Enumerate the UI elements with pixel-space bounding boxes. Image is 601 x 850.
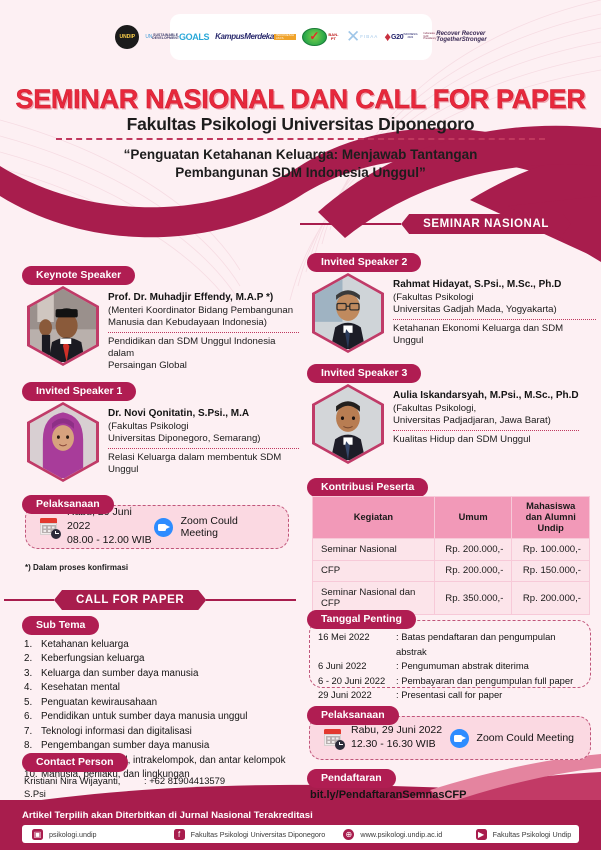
social-link-website[interactable]: ⊕ www.psikologi.undip.ac.id	[333, 829, 465, 840]
pelaksanaan-seminar-time: 08.00 - 12.00 WIB	[67, 534, 154, 548]
invited-speaker-3-badge-wrap: Invited Speaker 3	[307, 363, 421, 383]
speaker-card-invited-2: Rahmat Hidayat, S.Psi., M.Sc., Ph.D (Fak…	[312, 273, 596, 353]
item-number: 3.	[24, 667, 41, 681]
invited-speaker-2-badge: Invited Speaker 2	[307, 253, 421, 272]
zoom-label: Zoom Could Meeting	[181, 515, 272, 539]
cell-kegiatan: CFP	[313, 560, 435, 582]
speaker-info: Prof. Dr. Muhadjir Effendy, M.A.P *) (Me…	[108, 286, 299, 372]
kampus-merdeka-logo: Kampus Merdeka INDONESIA JAYA	[215, 33, 296, 41]
website-label: www.psikologi.undip.ac.id	[360, 830, 442, 839]
un-emblem: UN	[145, 35, 152, 40]
sub-tema-badge: Sub Tema	[22, 616, 99, 635]
speaker-divider	[393, 430, 579, 431]
tanggal-penting-badge: Tanggal Penting	[307, 610, 416, 629]
cell-umum: Rp. 200.000,-	[434, 560, 512, 582]
list-item: 2.Keberfungsian keluarga	[24, 652, 296, 666]
seminar-nasional-label: SEMINAR NASIONAL	[401, 214, 571, 234]
fibaa-label: FIBAA	[360, 35, 378, 40]
contact-person-badge-wrap: Contact Person	[22, 752, 128, 772]
speaker-name: Rahmat Hidayat, S.Psi., M.Sc., Ph.D	[393, 279, 596, 292]
speaker-photo-frame	[27, 402, 99, 482]
list-item: 6.Pendidikan untuk sumber daya manusia u…	[24, 710, 296, 724]
speaker-photo	[315, 387, 381, 461]
date-desc: : Batas pendaftaran dan pengumpulan abst…	[396, 630, 586, 659]
table-row: CFP Rp. 200.000,- Rp. 150.000,-	[313, 560, 590, 582]
contact-name: Kristiani Nira Wijayanti, S.Psi	[24, 774, 144, 801]
pelaksanaan-cfp-date: Rabu, 29 Juni 2022	[351, 724, 442, 738]
social-link-youtube[interactable]: ▶ Fakultas Psikologi Undip	[466, 829, 579, 840]
item-number: 7.	[24, 725, 41, 739]
invited-2-photo-image	[315, 276, 381, 349]
title-divider	[56, 138, 545, 140]
item-number: 6.	[24, 710, 41, 724]
speaker-divider	[108, 332, 299, 333]
pelaksanaan-cfp-badge: Pelaksanaan	[307, 706, 399, 725]
youtube-icon: ▶	[476, 829, 487, 840]
footer-note: Artikel Terpilih akan Diterbitkan di Jur…	[22, 810, 313, 821]
speaker-affiliation-line1: (Fakultas Psikologi	[393, 292, 596, 304]
tanggal-penting-list: 16 Mei 2022: Batas pendaftaran dan pengu…	[318, 630, 586, 703]
social-links-bar: ▣ psikologi.undip f Fakultas Psikologi U…	[22, 825, 579, 843]
contact-phone: : +62 81904413579	[144, 774, 225, 801]
rt-line1: Recover Together	[436, 31, 461, 44]
banner-line-right	[571, 223, 597, 225]
speaker-photo	[30, 289, 96, 363]
item-text: Kesehatan mental	[41, 681, 120, 695]
item-text: Teknologi informasi dan digitalisasi	[41, 725, 192, 739]
speaker-photo-frame	[312, 384, 384, 464]
item-text: Ketahanan keluarga	[41, 638, 129, 652]
speaker-affiliation-line2: Universitas Gadjah Mada, Yogyakarta)	[393, 304, 596, 316]
instagram-label: psikologi.undip	[49, 830, 97, 839]
speaker-topic-line1: Kualitas Hidup dan SDM Unggul	[393, 434, 579, 446]
item-number: 4.	[24, 681, 41, 695]
speaker-topic-line1: Pendidikan dan SDM Unggul Indonesia dala…	[108, 336, 299, 360]
speaker-card-invited-3: Aulia Iskandarsyah, M.Psi., M.Sc., Ph.D …	[312, 384, 596, 464]
invited-speaker-2-badge-wrap: Invited Speaker 2	[307, 252, 421, 272]
speaker-info: Aulia Iskandarsyah, M.Psi., M.Sc., Ph.D …	[393, 384, 579, 446]
speaker-card-keynote: Prof. Dr. Muhadjir Effendy, M.A.P *) (Me…	[27, 286, 299, 372]
cell-kegiatan: Seminar Nasional	[313, 539, 435, 561]
list-item: 7.Teknologi informasi dan digitalisasi	[24, 725, 296, 739]
date-row: 6 - 20 Juni 2022: Pembayaran dan pengump…	[318, 674, 586, 689]
pelaksanaan-cfp-datetime: Rabu, 29 Juni 2022 12.30 - 16.30 WIB	[351, 724, 442, 752]
item-number: 5.	[24, 696, 41, 710]
keynote-speaker-badge: Keynote Speaker	[22, 266, 135, 285]
speaker-name: Aulia Iskandarsyah, M.Psi., M.Sc., Ph.D	[393, 390, 579, 403]
ban-pt-label: BAN-PT	[327, 33, 340, 41]
pendaftaran-badge: Pendaftaran	[307, 769, 396, 788]
theme-line-1: “Penguatan Ketahanan Keluarga: Menjawab …	[0, 146, 601, 164]
date-value: 29 Juni 2022	[318, 688, 396, 703]
list-item: 5.Penguatan kewirausahaan	[24, 696, 296, 710]
pelaksanaan-cfp-badge-wrap: Pelaksanaan	[307, 705, 399, 725]
undip-logo: UNDIP	[115, 25, 139, 49]
table-header-mahasiswa: Mahasiswa dan Alumni Undip	[512, 497, 590, 539]
speaker-topic-line1: Relasi Keluarga dalam membentuk SDM Ungg…	[108, 452, 299, 476]
invited-1-photo-image	[30, 405, 96, 478]
banner-line-left	[300, 223, 401, 225]
zoom-label: Zoom Could Meeting	[477, 732, 574, 744]
rt-line2: Recover Stronger	[462, 31, 487, 44]
calendar-clock-icon	[40, 518, 59, 537]
confirmation-note: *) Dalam proses konfirmasi	[25, 563, 128, 572]
speaker-name: Dr. Novi Qonitatin, S.Psi., M.A	[108, 408, 299, 421]
speaker-affiliation-line2: Manusia dan Kebudayaan Indonesia)	[108, 317, 299, 329]
speaker-affiliation-line1: (Menteri Koordinator Bidang Pembangunan	[108, 305, 299, 317]
table-row: Seminar Nasional Rp. 200.000,- Rp. 100.0…	[313, 539, 590, 561]
pelaksanaan-seminar-badge: Pelaksanaan	[22, 495, 114, 514]
invited-speaker-3-badge: Invited Speaker 3	[307, 364, 421, 383]
speaker-affiliation-line2: Universitas Diponegoro, Semarang)	[108, 433, 299, 445]
theme-line-2: Pembangunan SDM Indonesia Unggul”	[0, 164, 601, 182]
date-value: 6 Juni 2022	[318, 659, 396, 674]
seminar-nasional-banner: SEMINAR NASIONAL	[300, 214, 597, 234]
footer: Artikel Terpilih akan Diterbitkan di Jur…	[0, 800, 601, 850]
item-text: Penguatan kewirausahaan	[41, 696, 157, 710]
speaker-photo-frame	[312, 273, 384, 353]
speaker-card-invited-1: Dr. Novi Qonitatin, S.Psi., M.A (Fakulta…	[27, 402, 299, 482]
social-link-instagram[interactable]: ▣ psikologi.undip	[22, 829, 164, 840]
date-row: 16 Mei 2022: Batas pendaftaran dan pengu…	[318, 630, 586, 659]
cell-umum: Rp. 200.000,-	[434, 539, 512, 561]
zoom-icon	[450, 729, 469, 748]
pelaksanaan-cfp-time: 12.30 - 16.30 WIB	[351, 738, 442, 752]
g20-drop-icon: ♦	[384, 31, 391, 43]
speaker-affiliation-line1: (Fakultas Psikologi,	[393, 403, 579, 415]
date-desc: : Pembayaran dan pengumpulan full paper	[396, 674, 573, 689]
partner-logo-bar: UNDIP UN SUSTAINABLE DEVELOPMENT GOALS K…	[170, 14, 432, 60]
cell-mahasiswa: Rp. 100.000,-	[512, 539, 590, 561]
speaker-photo	[30, 405, 96, 479]
rt-tiny: Indonesia G20 Presidency	[423, 33, 436, 41]
g20-logo: ♦ G20 INDONESIA 2022	[384, 31, 417, 43]
ban-pt-logo: BAN-PT	[302, 28, 340, 46]
kontribusi-badge-wrap: Kontribusi Peserta	[307, 477, 428, 497]
item-text: Keluarga dan sumber daya manusia	[41, 667, 198, 681]
speaker-name: Prof. Dr. Muhadjir Effendy, M.A.P *)	[108, 292, 299, 305]
item-number: 1.	[24, 638, 41, 652]
ban-pt-oval	[302, 28, 327, 46]
globe-icon: ⊕	[343, 829, 354, 840]
pelaksanaan-seminar-badge-wrap: Pelaksanaan	[22, 494, 114, 514]
sdg-logo: UN SUSTAINABLE DEVELOPMENT GOALS	[145, 33, 209, 42]
list-item: 1.Ketahanan keluarga	[24, 638, 296, 652]
date-value: 16 Mei 2022	[318, 630, 396, 659]
pelaksanaan-cfp-platform: Zoom Could Meeting	[450, 729, 590, 748]
call-for-paper-banner: CALL FOR PAPER	[4, 590, 296, 610]
social-link-facebook[interactable]: f Fakultas Psikologi Universitas Diponeg…	[164, 829, 334, 840]
facebook-icon: f	[174, 829, 185, 840]
km-line2: Merdeka	[244, 33, 274, 41]
speaker-info: Dr. Novi Qonitatin, S.Psi., M.A (Fakulta…	[108, 402, 299, 476]
date-value: 6 - 20 Juni 2022	[318, 674, 396, 689]
instagram-icon: ▣	[32, 829, 43, 840]
speaker-affiliation-line1: (Fakultas Psikologi	[108, 421, 299, 433]
sdg-line1: SUSTAINABLE DEVELOPMENT	[152, 34, 179, 41]
speaker-affiliation-line2: Universitas Padjadjaran, Jawa Barat)	[393, 415, 579, 427]
table-header-umum: Umum	[434, 497, 512, 539]
kontribusi-peserta-table: Kegiatan Umum Mahasiswa dan Alumni Undip…	[312, 496, 590, 615]
date-desc: : Pengumuman abstrak diterima	[396, 659, 529, 674]
calendar-clock-icon	[324, 729, 343, 748]
tanggal-penting-badge-wrap: Tanggal Penting	[307, 609, 416, 629]
speaker-divider	[393, 319, 596, 320]
item-number: 2.	[24, 652, 41, 666]
date-row: 6 Juni 2022: Pengumuman abstrak diterima	[318, 659, 586, 674]
speaker-photo	[315, 276, 381, 350]
cell-mahasiswa: Rp. 200.000,-	[512, 582, 590, 615]
cell-umum: Rp. 350.000,-	[434, 582, 512, 615]
table-header-row: Kegiatan Umum Mahasiswa dan Alumni Undip	[313, 497, 590, 539]
kontribusi-peserta-badge: Kontribusi Peserta	[307, 478, 428, 497]
pelaksanaan-seminar-platform: Zoom Could Meeting	[154, 515, 288, 539]
speaker-info: Rahmat Hidayat, S.Psi., M.Sc., Ph.D (Fak…	[393, 273, 596, 347]
km-line1: Kampus	[215, 33, 244, 41]
date-row: 29 Juni 2022: Presentasi call for paper	[318, 688, 586, 703]
cfp-line-right	[206, 599, 296, 601]
page-subtitle: Fakultas Psikologi Universitas Diponegor…	[0, 114, 601, 135]
cfp-line-left	[4, 599, 54, 601]
keynote-photo-image	[30, 289, 96, 362]
contact-row: Kristiani Nira Wijayanti, S.Psi: +62 819…	[24, 774, 294, 801]
invited-speaker-1-badge-wrap: Invited Speaker 1	[22, 381, 136, 401]
g20-label: G20	[391, 34, 403, 41]
fibaa-mark: ✕	[346, 30, 360, 44]
invited-3-photo-image	[315, 387, 381, 460]
list-item: 4.Kesehatan mental	[24, 681, 296, 695]
zoom-icon	[154, 518, 173, 537]
speaker-divider	[108, 448, 299, 449]
contact-person-badge: Contact Person	[22, 753, 128, 772]
seminar-poster: UNDIP UN SUSTAINABLE DEVELOPMENT GOALS K…	[0, 0, 601, 850]
keynote-speaker-badge-wrap: Keynote Speaker	[22, 265, 135, 285]
km-line3: INDONESIA JAYA	[274, 34, 296, 40]
g20-sub: INDONESIA 2022	[403, 34, 417, 39]
cell-mahasiswa: Rp. 150.000,-	[512, 560, 590, 582]
item-text: Keberfungsian keluarga	[41, 652, 145, 666]
fibaa-logo: ✕ FIBAA	[346, 30, 378, 44]
call-for-paper-label: CALL FOR PAPER	[54, 590, 206, 610]
item-text: Pendidikan untuk sumber daya manusia ung…	[41, 710, 247, 724]
invited-speaker-1-badge: Invited Speaker 1	[22, 382, 136, 401]
seminar-theme: “Penguatan Ketahanan Keluarga: Menjawab …	[0, 146, 601, 182]
page-title: SEMINAR NASIONAL DAN CALL FOR PAPER	[0, 84, 601, 115]
speaker-topic-line1: Ketahanan Ekonomi Keluarga dan SDM Unggu…	[393, 323, 596, 347]
sdg-line2: GOALS	[179, 33, 209, 42]
table-header-kegiatan: Kegiatan	[313, 497, 435, 539]
youtube-label: Fakultas Psikologi Undip	[493, 830, 572, 839]
pendaftaran-badge-wrap: Pendaftaran	[307, 768, 396, 788]
date-desc: : Presentasi call for paper	[396, 688, 502, 703]
list-item: 3.Keluarga dan sumber daya manusia	[24, 667, 296, 681]
sub-tema-badge-wrap: Sub Tema	[22, 615, 99, 635]
facebook-label: Fakultas Psikologi Universitas Diponegor…	[191, 830, 326, 839]
recover-together-logo: Indonesia G20 Presidency Recover Togethe…	[423, 31, 486, 44]
speaker-photo-frame	[27, 286, 99, 366]
speaker-topic-line2: Persaingan Global	[108, 360, 299, 372]
